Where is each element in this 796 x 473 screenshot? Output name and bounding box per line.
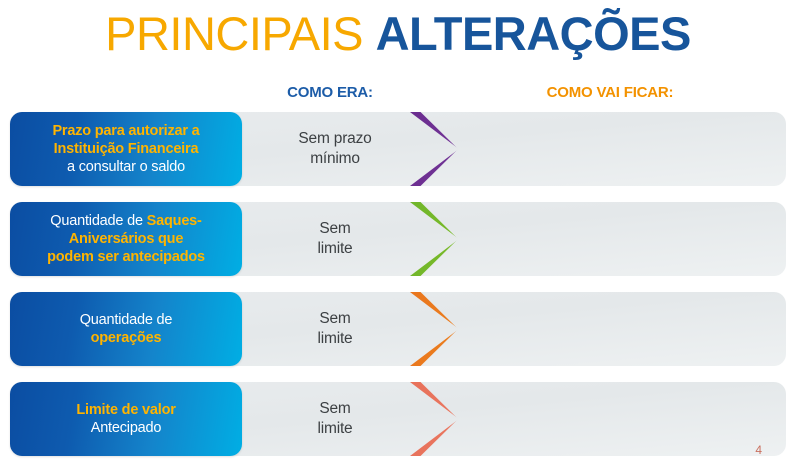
row-label-text: Limite de valorAntecipado <box>76 401 175 437</box>
column-header-como-vai-ficar: COMO VAI FICAR: <box>500 84 720 101</box>
row-label-text: Quantidade deoperações <box>80 311 173 347</box>
page-title-part-principais: PRINCIPAIS <box>105 7 375 60</box>
page-title: PRINCIPAIS ALTERAÇÕES <box>0 6 796 64</box>
row-old-value: Semlimite <box>250 292 420 366</box>
row-old-value: Sem prazomínimo <box>250 112 420 186</box>
row-label-pill[interactable]: Quantidade de Saques-Aniversários quepod… <box>10 202 242 276</box>
page-title-part-alteracoes: ALTERAÇÕES <box>376 7 691 60</box>
row-label-text: Prazo para autorizar aInstituição Financ… <box>52 122 199 176</box>
comparison-row: Quantidade de Saques-Aniversários quepod… <box>10 202 786 276</box>
column-header-como-era: COMO ERA: <box>240 84 420 101</box>
comparison-row: Prazo para autorizar aInstituição Financ… <box>10 112 786 186</box>
row-old-value: Semlimite <box>250 202 420 276</box>
row-old-value: Semlimite <box>250 382 420 456</box>
row-label-text: Quantidade de Saques-Aniversários quepod… <box>47 212 205 266</box>
row-label-pill[interactable]: Quantidade deoperações <box>10 292 242 366</box>
row-label-pill[interactable]: Prazo para autorizar aInstituição Financ… <box>10 112 242 186</box>
comparison-row: Limite de valorAntecipado Semlimite No m… <box>10 382 786 456</box>
page-number: 4 <box>755 443 762 457</box>
comparison-row: Quantidade deoperações Semlimite Uma con… <box>10 292 786 366</box>
row-label-pill[interactable]: Limite de valorAntecipado <box>10 382 242 456</box>
